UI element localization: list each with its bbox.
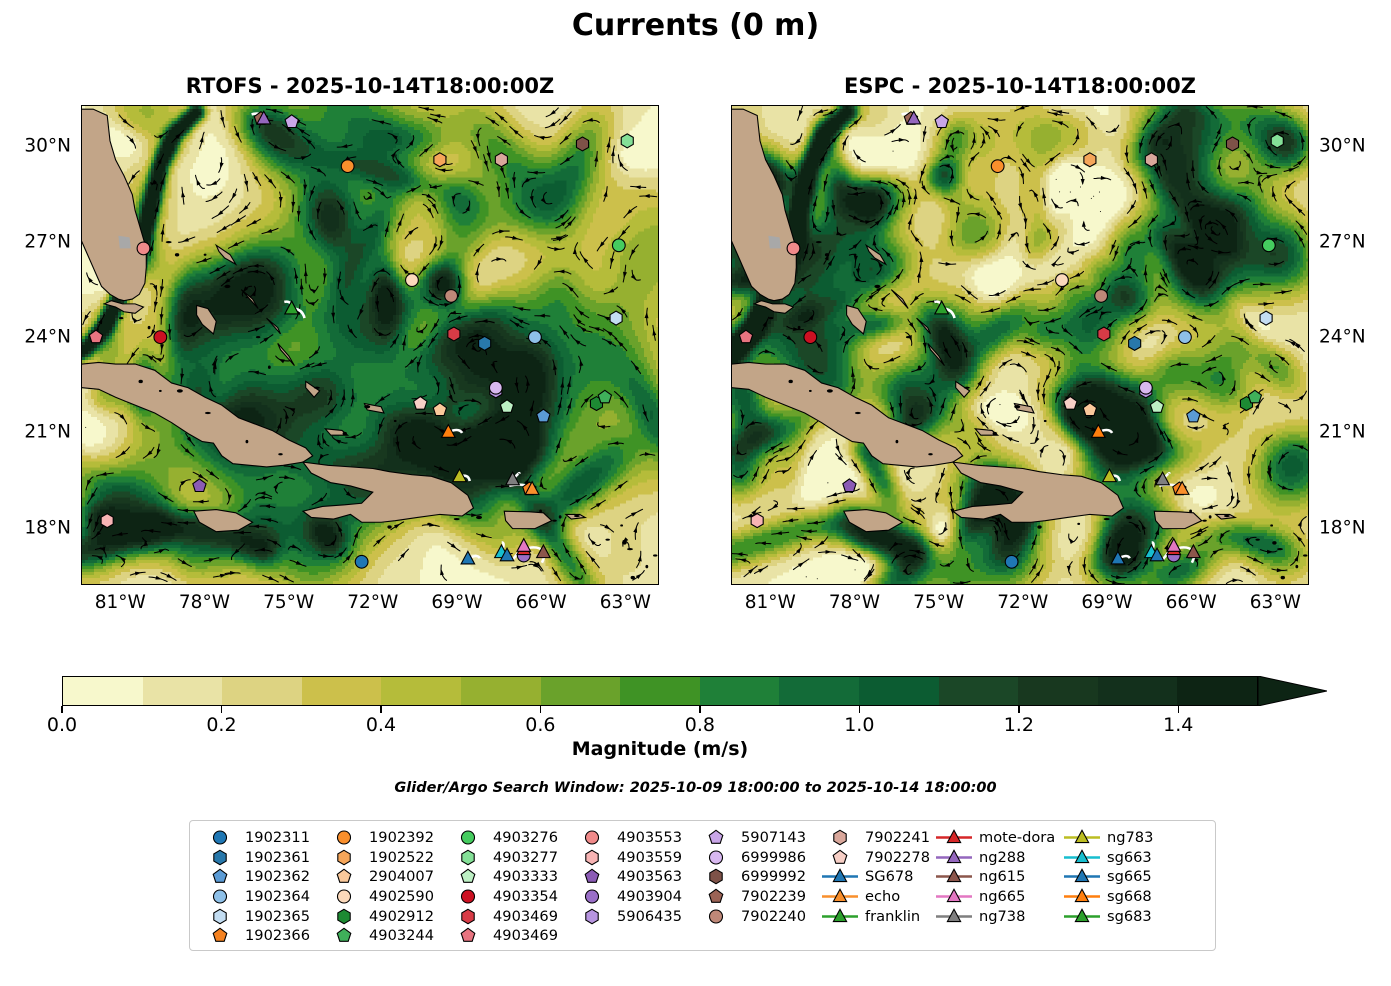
x-tick-label: 69°W [431, 592, 482, 613]
argo-marker[interactable] [1179, 331, 1192, 344]
legend-label: 7902278 [864, 849, 930, 866]
argo-marker[interactable] [445, 290, 458, 303]
legend-item[interactable]: 7902240 [694, 906, 818, 926]
legend-item[interactable]: 1902392 [322, 828, 446, 848]
legend-marker-triangle-line [1060, 887, 1106, 906]
argo-marker[interactable] [576, 137, 588, 151]
legend-item[interactable]: 4903354 [446, 887, 570, 907]
legend-item[interactable]: sg663 [1060, 848, 1160, 868]
island-speck [1104, 518, 1110, 520]
legend-marker-circle [570, 887, 616, 906]
argo-marker[interactable] [101, 514, 113, 528]
island-speck [246, 440, 249, 443]
y-tick-minor [81, 369, 82, 371]
y-tick [1308, 433, 1309, 435]
argo-marker[interactable] [621, 134, 633, 148]
y-tick [731, 242, 732, 244]
x-tick [1276, 105, 1278, 106]
legend-marker-pentagon [322, 867, 368, 886]
island-speck [993, 432, 997, 435]
x-tick-minor [233, 105, 235, 106]
legend-marker-triangle-line [1060, 867, 1106, 886]
legend-marker-pentagon [446, 867, 492, 886]
argo-marker[interactable] [1098, 327, 1110, 341]
colorbar-segment [461, 677, 541, 705]
legend-item[interactable]: 6999992 [694, 867, 818, 887]
legend-item[interactable]: 4902590 [322, 887, 446, 907]
y-tick [1308, 242, 1309, 244]
y-tick-minor [81, 210, 82, 212]
x-tick-minor [569, 105, 571, 106]
y-tick-minor [731, 464, 732, 466]
x-tick [541, 105, 543, 106]
x-tick-minor [967, 105, 969, 106]
colorbar-tick-label: 0.6 [525, 714, 555, 736]
legend-item[interactable]: 1902311 [198, 828, 322, 848]
legend-item[interactable]: sg683 [1060, 906, 1160, 926]
legend-item[interactable]: 6999986 [694, 848, 818, 868]
legend-label: sg683 [1106, 908, 1152, 925]
island-speck [177, 389, 183, 392]
x-tick-minor [597, 584, 599, 585]
legend-label: sg668 [1106, 888, 1152, 905]
x-tick-label: 66°W [1166, 592, 1217, 613]
legend-marker-hexagon [322, 907, 368, 926]
island-speck [605, 539, 609, 541]
legend-marker-triangle-line [932, 848, 978, 867]
x-tick-label: 66°W [516, 592, 567, 613]
island-speck [278, 453, 282, 455]
y-tick [731, 528, 732, 530]
argo-marker[interactable] [341, 160, 354, 173]
x-tick-minor [177, 105, 179, 106]
y-tick-label: 24°N [1319, 327, 1366, 348]
island-speck [1255, 539, 1259, 541]
legend-item[interactable]: ng615 [932, 867, 1060, 887]
legend-item[interactable]: 4903277 [446, 848, 570, 868]
x-tick [1023, 105, 1025, 106]
y-tick-minor [731, 401, 732, 403]
legend-marker-hexagon [694, 867, 740, 886]
x-tick-minor [345, 105, 347, 106]
argo-marker[interactable] [1139, 381, 1152, 394]
x-tick-label: 72°W [347, 592, 398, 613]
colorbar-tick [221, 706, 223, 713]
colorbar-segment [381, 677, 461, 705]
legend-marker-triangle-line [818, 867, 864, 886]
x-tick [205, 105, 207, 106]
y-tick [658, 242, 659, 244]
x-tick [289, 584, 291, 585]
platform-legend[interactable]: 1902311190236119023621902364190236519023… [189, 820, 1216, 951]
x-tick-minor [1163, 584, 1165, 585]
colorbar-segment [1177, 677, 1257, 705]
x-tick [120, 584, 122, 585]
island-speck [928, 453, 932, 455]
island-speck [809, 390, 812, 392]
x-tick-minor [1304, 584, 1306, 585]
x-tick [457, 584, 459, 585]
island-speck [854, 254, 857, 256]
argo-marker[interactable] [137, 242, 150, 255]
legend-item[interactable]: 4903276 [446, 828, 570, 848]
map-panel-rtofs[interactable]: RTOFS - 2025-10-14T18:00:00Z [81, 105, 659, 585]
legend-column-1: 1902311190236119023621902364190236519023… [198, 828, 322, 950]
y-tick-minor [731, 115, 732, 117]
island-speck [1014, 405, 1020, 408]
legend-marker-triangle-line [1060, 848, 1106, 867]
x-tick [541, 584, 543, 585]
argo-marker[interactable] [1226, 137, 1238, 151]
legend-item[interactable]: 4903553 [570, 828, 694, 848]
y-tick-minor [81, 496, 82, 498]
legend-item[interactable]: 4903563 [570, 867, 694, 887]
argo-marker[interactable] [1262, 239, 1275, 252]
x-tick-minor [883, 584, 885, 585]
argo-marker[interactable] [787, 242, 800, 255]
legend-item[interactable]: 4903244 [322, 926, 446, 946]
legend-marker-pentagon [198, 867, 244, 886]
island-speck [874, 285, 880, 288]
map-axes-rtofs[interactable] [81, 105, 659, 585]
legend-column-8: ng783sg663sg665sg668sg683 [1060, 828, 1160, 950]
legend-label: echo [864, 888, 900, 905]
island-speck [1189, 510, 1192, 513]
y-tick-minor [658, 496, 659, 498]
island-speck [825, 253, 829, 256]
y-tick-label: 18°N [1319, 517, 1366, 538]
island-speck [224, 285, 230, 288]
island-speck [789, 380, 793, 383]
legend-label: 4903553 [616, 829, 682, 846]
y-tick-minor [1308, 115, 1309, 117]
island-speck [476, 516, 482, 519]
y-tick-minor [658, 115, 659, 117]
legend-item[interactable]: 7902241 [818, 828, 932, 848]
colorbar-tick-label: 0.2 [206, 714, 236, 736]
x-tick-minor [261, 105, 263, 106]
x-tick-minor [742, 584, 744, 585]
legend-marker-triangle-line [932, 887, 978, 906]
legend-item[interactable]: ng665 [932, 887, 1060, 907]
x-tick-minor [513, 105, 515, 106]
island-speck [343, 432, 347, 435]
argo-marker[interactable] [610, 311, 622, 325]
island-speck [1209, 515, 1212, 518]
island-speck [622, 541, 626, 544]
y-tick-label: 21°N [1319, 422, 1366, 443]
colorbar-tick [859, 706, 861, 713]
x-tick [120, 105, 122, 106]
x-tick-label: 81°W [95, 592, 146, 613]
lake-okeechobee [768, 236, 781, 249]
y-tick-minor [658, 210, 659, 212]
argo-marker[interactable] [804, 331, 817, 344]
y-tick [81, 528, 82, 530]
legend-item[interactable]: sg668 [1060, 887, 1160, 907]
argo-marker[interactable] [1056, 274, 1069, 287]
legend-item[interactable]: 1902361 [198, 848, 322, 868]
legend-label: ng665 [978, 888, 1025, 905]
y-tick-label: 21°N [24, 422, 71, 443]
island-speck [896, 440, 899, 443]
x-tick [770, 105, 772, 106]
legend-item[interactable]: 4903904 [570, 887, 694, 907]
x-tick-label: 69°W [1081, 592, 1132, 613]
y-tick-minor [81, 464, 82, 466]
legend-marker-hexagon [446, 907, 492, 926]
x-tick-label: 63°W [1250, 592, 1301, 613]
legend-label: 4903904 [616, 888, 682, 905]
map-canvas-espc [732, 106, 1308, 584]
map-panel-espc[interactable]: ESPC - 2025-10-14T18:00:00Z [731, 105, 1309, 585]
argo-marker[interactable] [751, 514, 763, 528]
argo-marker[interactable] [991, 160, 1004, 173]
legend-marker-triangle-line [1060, 828, 1106, 847]
island-speck [769, 317, 773, 319]
x-tick-label: 78°W [179, 592, 230, 613]
argo-marker[interactable] [1260, 311, 1272, 325]
legend-marker-pentagon [446, 926, 492, 945]
x-tick-minor [92, 105, 94, 106]
legend-marker-triangle-line [932, 907, 978, 926]
y-tick-minor [731, 496, 732, 498]
y-tick-minor [658, 464, 659, 466]
legend-item[interactable]: 5907143 [694, 828, 818, 848]
colorbar-title: Magnitude (m/s) [62, 738, 1258, 760]
x-tick-minor [429, 584, 431, 585]
legend-label: 1902392 [368, 829, 434, 846]
island-speck [1044, 420, 1047, 422]
colorbar-tick [61, 706, 63, 713]
x-tick-label: 78°W [829, 592, 880, 613]
legend-marker-hexagon [570, 848, 616, 867]
x-tick [373, 105, 375, 106]
map-axes-espc[interactable] [731, 105, 1309, 585]
argo-marker[interactable] [479, 336, 491, 350]
y-tick-minor [81, 560, 82, 562]
island-speck [627, 548, 633, 550]
legend-item[interactable]: 1902522 [322, 848, 446, 868]
y-tick-minor [731, 210, 732, 212]
x-tick-minor [1079, 584, 1081, 585]
island-speck [1202, 520, 1206, 522]
y-tick-minor [658, 369, 659, 371]
x-tick-minor [401, 105, 403, 106]
legend-item[interactable]: ng288 [932, 848, 1060, 868]
x-tick-minor [799, 105, 801, 106]
legend-marker-triangle-line [1060, 907, 1106, 926]
x-tick [939, 584, 941, 585]
legend-marker-triangle-line [932, 828, 978, 847]
y-tick-minor [81, 305, 82, 307]
colorbar-tick-label: 1.4 [1163, 714, 1193, 736]
island-speck [620, 524, 623, 526]
legend-marker-circle [446, 887, 492, 906]
argo-marker[interactable] [355, 555, 368, 568]
legend-marker-pentagon [818, 848, 864, 867]
y-tick-label: 27°N [24, 231, 71, 252]
island-speck [1270, 524, 1273, 526]
argo-marker[interactable] [448, 327, 460, 341]
colorbar-segment [1098, 677, 1178, 705]
legend-label: SG678 [864, 868, 913, 885]
legend-marker-pentagon [694, 887, 740, 906]
island-speck [205, 412, 211, 414]
x-tick-minor [261, 584, 263, 585]
legend-item[interactable]: 5906435 [570, 906, 694, 926]
x-tick-minor [1163, 105, 1165, 106]
x-tick-minor [827, 584, 829, 585]
legend-item[interactable]: ng738 [932, 906, 1060, 926]
y-tick [658, 528, 659, 530]
legend-item[interactable]: 1902364 [198, 887, 322, 907]
y-tick-minor [658, 274, 659, 276]
legend-marker-pentagon [198, 926, 244, 945]
x-tick-minor [1247, 584, 1249, 585]
x-tick-minor [911, 105, 913, 106]
island-speck [552, 520, 556, 522]
colorbar[interactable]: 0.00.20.40.60.81.01.21.4 [62, 676, 1327, 706]
colorbar-extend-arrow [1258, 676, 1327, 706]
legend-item[interactable]: mote-dora [932, 828, 1060, 848]
argo-marker[interactable] [1145, 153, 1157, 167]
legend-item[interactable]: 7902278 [818, 848, 932, 868]
legend-item[interactable]: 1902366 [198, 926, 322, 946]
colorbar-tick-label: 1.2 [1004, 714, 1034, 736]
legend-label: 4903333 [492, 868, 558, 885]
legend-item[interactable]: 7902239 [694, 887, 818, 907]
y-tick-minor [731, 560, 732, 562]
argo-marker[interactable] [612, 239, 625, 252]
legend-item[interactable]: echo [818, 887, 932, 907]
argo-marker[interactable] [489, 381, 502, 394]
legend-label: 4903354 [492, 888, 558, 905]
legend-marker-hexagon [322, 848, 368, 867]
y-tick [1308, 528, 1309, 530]
legend-item[interactable]: franklin [818, 906, 932, 926]
x-tick-minor [995, 584, 997, 585]
argo-marker[interactable] [434, 153, 446, 167]
island-speck [1224, 515, 1230, 517]
colorbar-segment [143, 677, 223, 705]
y-tick [1308, 147, 1309, 149]
legend-item[interactable]: 2904007 [322, 867, 446, 887]
legend-item[interactable]: 4903559 [570, 848, 694, 868]
legend-label: 1902311 [244, 829, 310, 846]
island-speck [1277, 548, 1283, 550]
figure: Currents (0 m) RTOFS - 2025-10-14T18:00:… [0, 0, 1391, 986]
colorbar-segment [620, 677, 700, 705]
legend-label: 5906435 [616, 908, 682, 925]
lake-okeechobee [118, 236, 131, 249]
island-speck [159, 390, 162, 392]
legend-item[interactable]: sg665 [1060, 867, 1160, 887]
search-window-caption: Glider/Argo Search Window: 2025-10-09 18… [0, 780, 1391, 796]
island-speck [1037, 525, 1041, 528]
colorbar-tick [699, 706, 701, 713]
colorbar-tick-label: 1.0 [844, 714, 874, 736]
legend-label: 4903563 [616, 868, 682, 885]
island-speck [364, 405, 370, 408]
y-tick-minor [1308, 401, 1309, 403]
legend-label: 2904007 [368, 868, 434, 885]
y-tick-minor [658, 305, 659, 307]
y-tick [731, 433, 732, 435]
legend-item[interactable]: 4902912 [322, 906, 446, 926]
argo-marker[interactable] [1084, 153, 1096, 167]
legend-column-7: mote-dorang288ng615ng665ng738 [932, 828, 1060, 950]
island-speck [855, 412, 861, 414]
island-speck [427, 523, 430, 525]
legend-item[interactable]: 4903333 [446, 867, 570, 887]
island-speck [454, 518, 460, 520]
island-speck [631, 576, 635, 579]
y-tick-label: 30°N [24, 136, 71, 157]
x-tick-minor [1051, 105, 1053, 106]
argo-marker[interactable] [1129, 336, 1141, 350]
legend-label: franklin [864, 908, 920, 925]
argo-marker[interactable] [406, 274, 419, 287]
y-tick-minor [1308, 496, 1309, 498]
x-tick-minor [883, 105, 885, 106]
legend-item[interactable]: 4903469 [446, 926, 570, 946]
legend-item[interactable]: ng783 [1060, 828, 1160, 848]
argo-marker[interactable] [1271, 134, 1283, 148]
legend-marker-circle [198, 828, 244, 847]
island-speck [166, 241, 172, 243]
x-tick-minor [429, 105, 431, 106]
colorbar-ticks [62, 706, 1258, 714]
island-speck [574, 515, 580, 517]
legend-item[interactable]: 1902362 [198, 867, 322, 887]
legend-item[interactable]: 1902365 [198, 906, 322, 926]
legend-column-4: 49035534903559490356349039045906435 [570, 828, 694, 950]
argo-marker[interactable] [1095, 290, 1108, 303]
x-tick-minor [1219, 584, 1221, 585]
legend-marker-hexagon [198, 848, 244, 867]
argo-marker[interactable] [1005, 555, 1018, 568]
panel-title-rtofs: RTOFS - 2025-10-14T18:00:00Z [81, 74, 659, 98]
x-tick-minor [149, 584, 151, 585]
y-tick [81, 147, 82, 149]
colorbar-tick [540, 706, 542, 713]
legend-marker-hexagon [446, 848, 492, 867]
legend-item[interactable]: 4903469 [446, 906, 570, 926]
y-tick-minor [1308, 274, 1309, 276]
x-tick [1191, 584, 1193, 585]
x-tick [855, 105, 857, 106]
island-speck [1077, 523, 1080, 525]
legend-column-3: 4903276490327749033334903354490346949034… [446, 828, 570, 950]
argo-marker[interactable] [495, 153, 507, 167]
y-tick [81, 433, 82, 435]
x-tick-label: 75°W [913, 592, 964, 613]
island-speck [1281, 576, 1285, 579]
legend-column-5: 59071436999986699999279022397902240 [694, 828, 818, 950]
island-speck [1272, 541, 1276, 544]
legend-label: 4902590 [368, 888, 434, 905]
legend-marker-circle [446, 828, 492, 847]
argo-marker[interactable] [154, 331, 167, 344]
colorbar-ticklabels: 0.00.20.40.60.81.01.21.4 [62, 714, 1258, 740]
x-tick [1107, 584, 1109, 585]
legend-label: 4903469 [492, 908, 558, 925]
legend-label: 6999986 [740, 849, 806, 866]
argo-marker[interactable] [529, 331, 542, 344]
legend-item[interactable]: SG678 [818, 867, 932, 887]
x-tick-minor [1051, 584, 1053, 585]
